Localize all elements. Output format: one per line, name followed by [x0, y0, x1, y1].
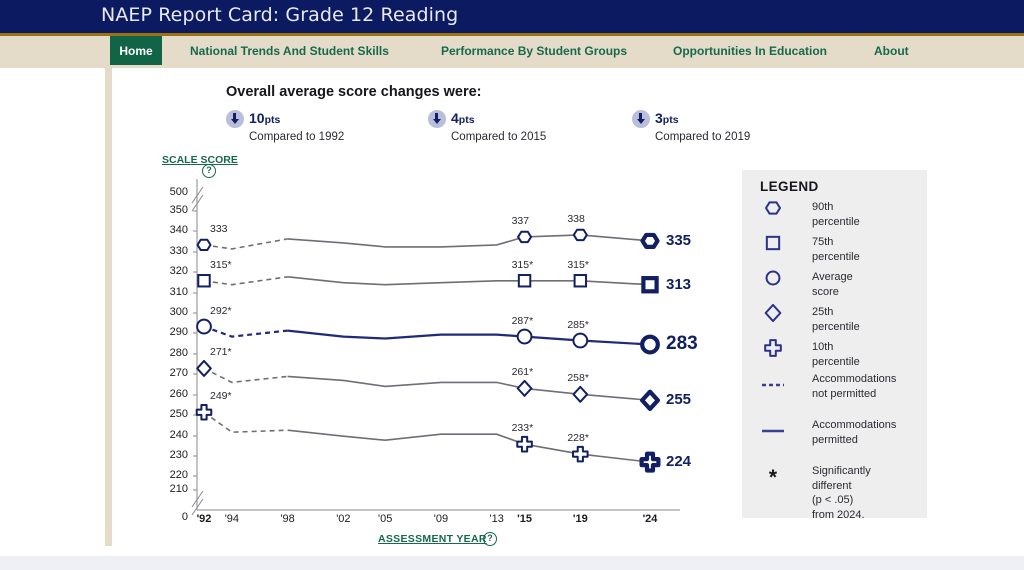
y-tick-label: 320: [150, 265, 188, 277]
legend-item-label: Accommodations not permitted: [812, 372, 896, 401]
y-tick-label: 280: [150, 347, 188, 359]
series-end-value: 224: [666, 453, 691, 470]
chart-legend: LEGEND 90th percentile75th percentileAve…: [742, 170, 927, 518]
data-point-label: 287*: [512, 315, 534, 327]
circle-marker[interactable]: [518, 330, 532, 344]
asterisk-icon: *: [760, 466, 786, 488]
nav-item-national-trends[interactable]: National Trends And Student Skills: [190, 36, 389, 65]
nav-item-performance-groups[interactable]: Performance By Student Groups: [441, 36, 627, 65]
hexagon-marker: [760, 197, 786, 219]
summary-heading: Overall average score changes were:: [226, 84, 482, 100]
cross-marker: [760, 337, 786, 359]
y-tick-label: 220: [150, 469, 188, 481]
svg-text:*: *: [769, 466, 778, 488]
circle-marker: [760, 267, 786, 289]
hexagon-marker[interactable]: [198, 240, 211, 250]
change-number-1992: 10: [249, 110, 265, 126]
data-point-label: 249*: [210, 390, 232, 402]
diamond-marker[interactable]: [642, 392, 658, 409]
x-tick-label: '24: [635, 513, 665, 525]
x-axis-title[interactable]: ASSESSMENT YEAR: [378, 533, 487, 545]
circle-marker[interactable]: [197, 320, 211, 334]
legend-item-label: Accommodations permitted: [812, 418, 896, 447]
nav-under-strip: [0, 65, 1024, 68]
legend-item-label: 10th percentile: [812, 340, 860, 369]
change-number-2019: 3: [655, 110, 663, 126]
change-compared-1992: Compared to 1992: [249, 131, 344, 143]
change-value-2015: 4pts: [451, 110, 475, 126]
data-point-label: 261*: [512, 366, 534, 378]
data-point-label: 315*: [512, 259, 534, 271]
change-number-2015: 4: [451, 110, 459, 126]
cross-marker[interactable]: [197, 405, 212, 420]
x-tick-label: '09: [426, 513, 456, 525]
y-tick-label: 230: [150, 449, 188, 461]
legend-title: LEGEND: [760, 179, 819, 194]
legend-item-label: Significantly different (p < .05) from 2…: [812, 464, 871, 522]
data-point-label: 228*: [567, 432, 589, 444]
y-tick-label: 350: [150, 204, 188, 216]
assessment-year-help-icon[interactable]: ?: [483, 532, 497, 546]
square-marker: [760, 232, 786, 254]
data-point-label: 258*: [567, 372, 589, 384]
change-value-1992: 10pts: [249, 110, 280, 126]
chart-canvas: [150, 155, 710, 545]
x-tick-label: '98: [273, 513, 303, 525]
series-end-value: 255: [666, 391, 691, 408]
legend-item-label: 90th percentile: [812, 200, 860, 229]
y-tick-label: 330: [150, 245, 188, 257]
y-tick-label: 290: [150, 326, 188, 338]
nav-item-opportunities[interactable]: Opportunities In Education: [673, 36, 827, 65]
left-accent-strip: [105, 68, 112, 546]
change-compared-2019: Compared to 2019: [655, 131, 750, 143]
change-compared-2015: Compared to 2015: [451, 131, 546, 143]
dashed-line: [760, 374, 786, 396]
y-tick-label: 240: [150, 429, 188, 441]
y-tick-label: 250: [150, 408, 188, 420]
arrow-down-icon: [428, 110, 446, 128]
y-tick-label: 500: [150, 186, 188, 198]
y-tick-label: 0: [150, 511, 188, 523]
x-tick-label: '05: [370, 513, 400, 525]
data-point-label: 285*: [567, 319, 589, 331]
legend-item-label: Average score: [812, 270, 853, 299]
change-value-2019: 3pts: [655, 110, 679, 126]
x-tick-label: '15: [510, 513, 540, 525]
series-end-value: 283: [666, 333, 698, 355]
data-point-label: 233*: [512, 422, 534, 434]
y-tick-label: 300: [150, 306, 188, 318]
legend-item-label: 25th percentile: [812, 305, 860, 334]
cross-marker[interactable]: [642, 454, 659, 471]
change-unit-1992: pts: [265, 114, 281, 126]
nav-item-home[interactable]: Home: [110, 36, 162, 65]
data-point-label: 292*: [210, 305, 232, 317]
y-tick-label: 210: [150, 483, 188, 495]
hexagon-marker[interactable]: [643, 235, 658, 247]
series-end-value: 313: [666, 276, 691, 293]
x-axis-title-text: ASSESSMENT YEAR: [378, 533, 487, 545]
y-tick-label: 340: [150, 224, 188, 236]
data-point-label: 337: [512, 215, 530, 227]
page-title: NAEP Report Card: Grade 12 Reading: [101, 4, 458, 26]
app-header: NAEP Report Card: Grade 12 Reading: [0, 0, 1024, 33]
data-point-label: 338: [567, 213, 585, 225]
change-unit-2015: pts: [459, 114, 475, 126]
hexagon-marker[interactable]: [518, 232, 531, 242]
line-chart: SCALE SCORE ? 50035034033032031030029028…: [150, 155, 710, 545]
circle-marker[interactable]: [642, 337, 658, 353]
x-tick-label: '94: [217, 513, 247, 525]
y-tick-label: 270: [150, 367, 188, 379]
x-tick-label: '13: [482, 513, 512, 525]
arrow-down-icon: [632, 110, 650, 128]
bottom-strip: [0, 556, 1024, 570]
square-marker[interactable]: [643, 278, 656, 291]
y-tick-label: 260: [150, 388, 188, 400]
square-marker[interactable]: [198, 275, 209, 286]
change-unit-2019: pts: [663, 114, 679, 126]
x-tick-label: '92: [189, 513, 219, 525]
nav-item-about[interactable]: About: [874, 36, 909, 65]
diamond-marker[interactable]: [518, 381, 532, 396]
diamond-marker: [760, 302, 786, 324]
square-marker[interactable]: [519, 275, 530, 286]
x-tick-label: '19: [565, 513, 595, 525]
x-tick-label: '02: [328, 513, 358, 525]
diamond-marker[interactable]: [197, 361, 211, 376]
hexagon-marker[interactable]: [574, 230, 587, 240]
square-marker[interactable]: [575, 275, 586, 286]
cross-marker[interactable]: [573, 447, 588, 462]
y-tick-label: 310: [150, 286, 188, 298]
data-point-label: 333: [210, 223, 228, 235]
arrow-down-icon: [226, 110, 244, 128]
solid-line: [760, 420, 786, 442]
circle-marker[interactable]: [573, 334, 587, 348]
data-point-label: 315*: [567, 259, 589, 271]
cross-marker[interactable]: [517, 437, 532, 452]
data-point-label: 271*: [210, 346, 232, 358]
series-end-value: 335: [666, 232, 691, 249]
diamond-marker[interactable]: [573, 387, 587, 402]
data-point-label: 315*: [210, 259, 232, 271]
legend-item-label: 75th percentile: [812, 235, 860, 264]
